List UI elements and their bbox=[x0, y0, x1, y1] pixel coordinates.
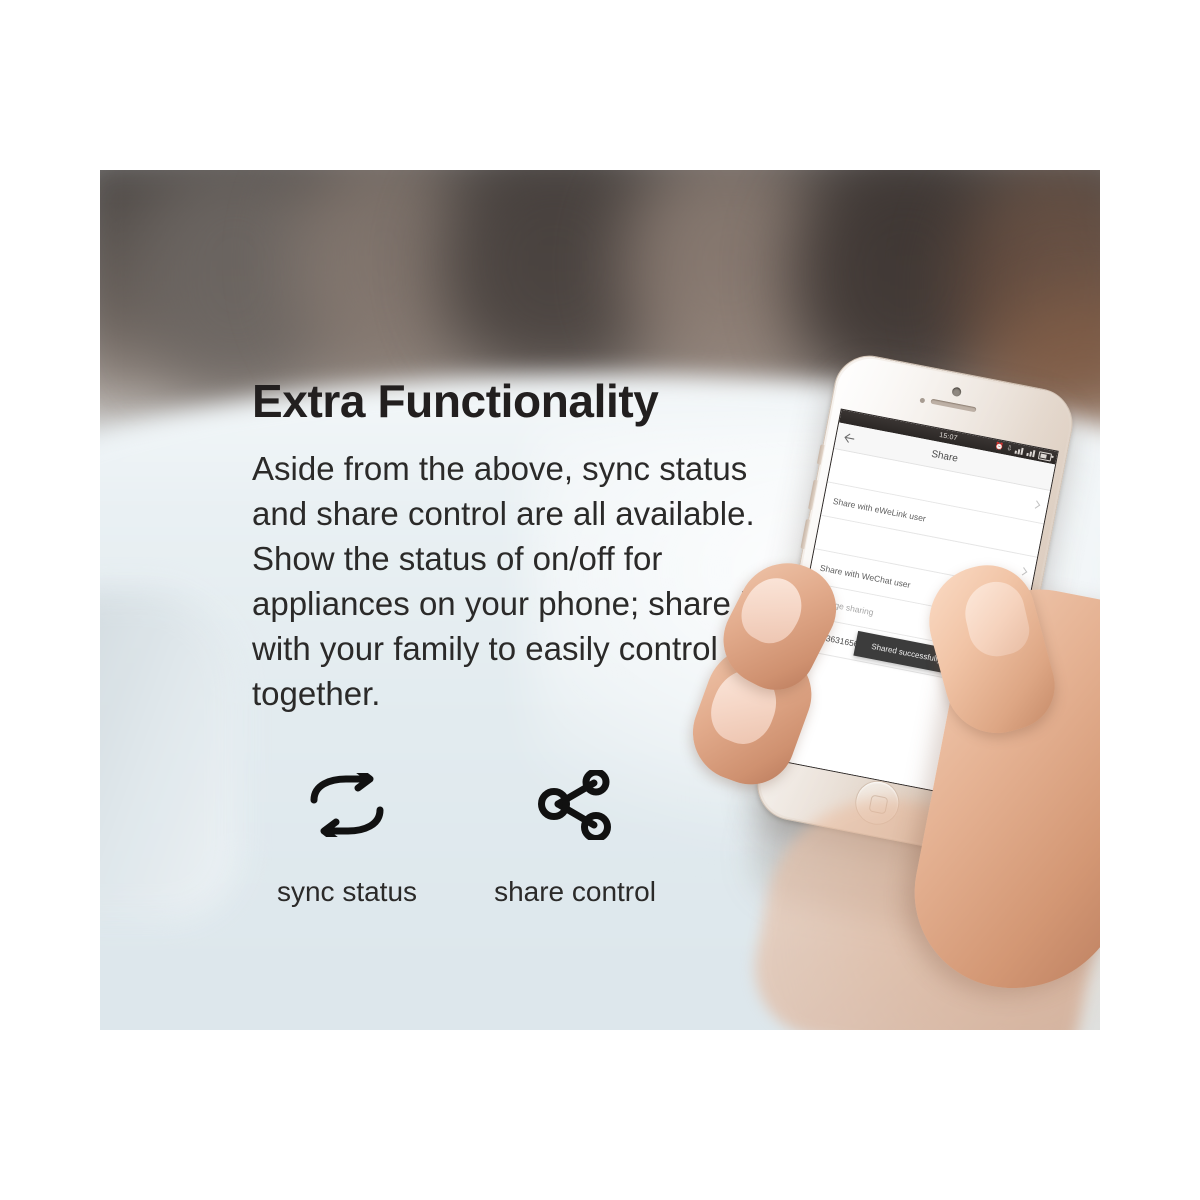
feature-label: sync status bbox=[252, 876, 442, 908]
proximity-sensor-icon bbox=[919, 398, 925, 404]
home-button-square-icon bbox=[868, 794, 888, 814]
smartphone: 15:07 ⏰ ⇩ bbox=[751, 350, 1079, 860]
battery-icon bbox=[1038, 451, 1052, 461]
photo-panel: Extra Functionality Aside from the above… bbox=[100, 170, 1100, 1030]
chevron-right-icon bbox=[1006, 633, 1014, 641]
chevron-right-icon bbox=[1019, 567, 1027, 575]
front-camera-icon bbox=[951, 387, 962, 398]
signal-icon bbox=[1026, 449, 1036, 458]
earpiece-speaker bbox=[930, 399, 976, 413]
list-item-label: Manage sharing bbox=[813, 595, 875, 616]
bluetooth-icon: ⇩ bbox=[1006, 445, 1013, 453]
chevron-right-icon bbox=[1032, 500, 1040, 508]
signal-icon bbox=[1014, 447, 1024, 456]
promo-page: Extra Functionality Aside from the above… bbox=[0, 0, 1200, 1200]
screen-title: Share bbox=[931, 448, 959, 464]
list-item-label: Share with eWeLink user bbox=[832, 495, 927, 523]
mute-switch[interactable] bbox=[817, 444, 825, 464]
home-button[interactable] bbox=[852, 777, 904, 829]
background-object-left bbox=[100, 590, 240, 920]
back-arrow-icon[interactable] bbox=[842, 431, 857, 446]
phone-screen: 15:07 ⏰ ⇩ bbox=[773, 409, 1059, 803]
volume-down-button[interactable] bbox=[800, 519, 810, 549]
volume-up-button[interactable] bbox=[808, 480, 818, 510]
feature-list: sync status share control bbox=[252, 766, 670, 908]
sync-icon bbox=[252, 766, 442, 844]
feature-sync-status: sync status bbox=[252, 766, 442, 908]
alarm-icon: ⏰ bbox=[994, 443, 1004, 452]
list-item-label: Share with WeChat user bbox=[819, 562, 911, 589]
